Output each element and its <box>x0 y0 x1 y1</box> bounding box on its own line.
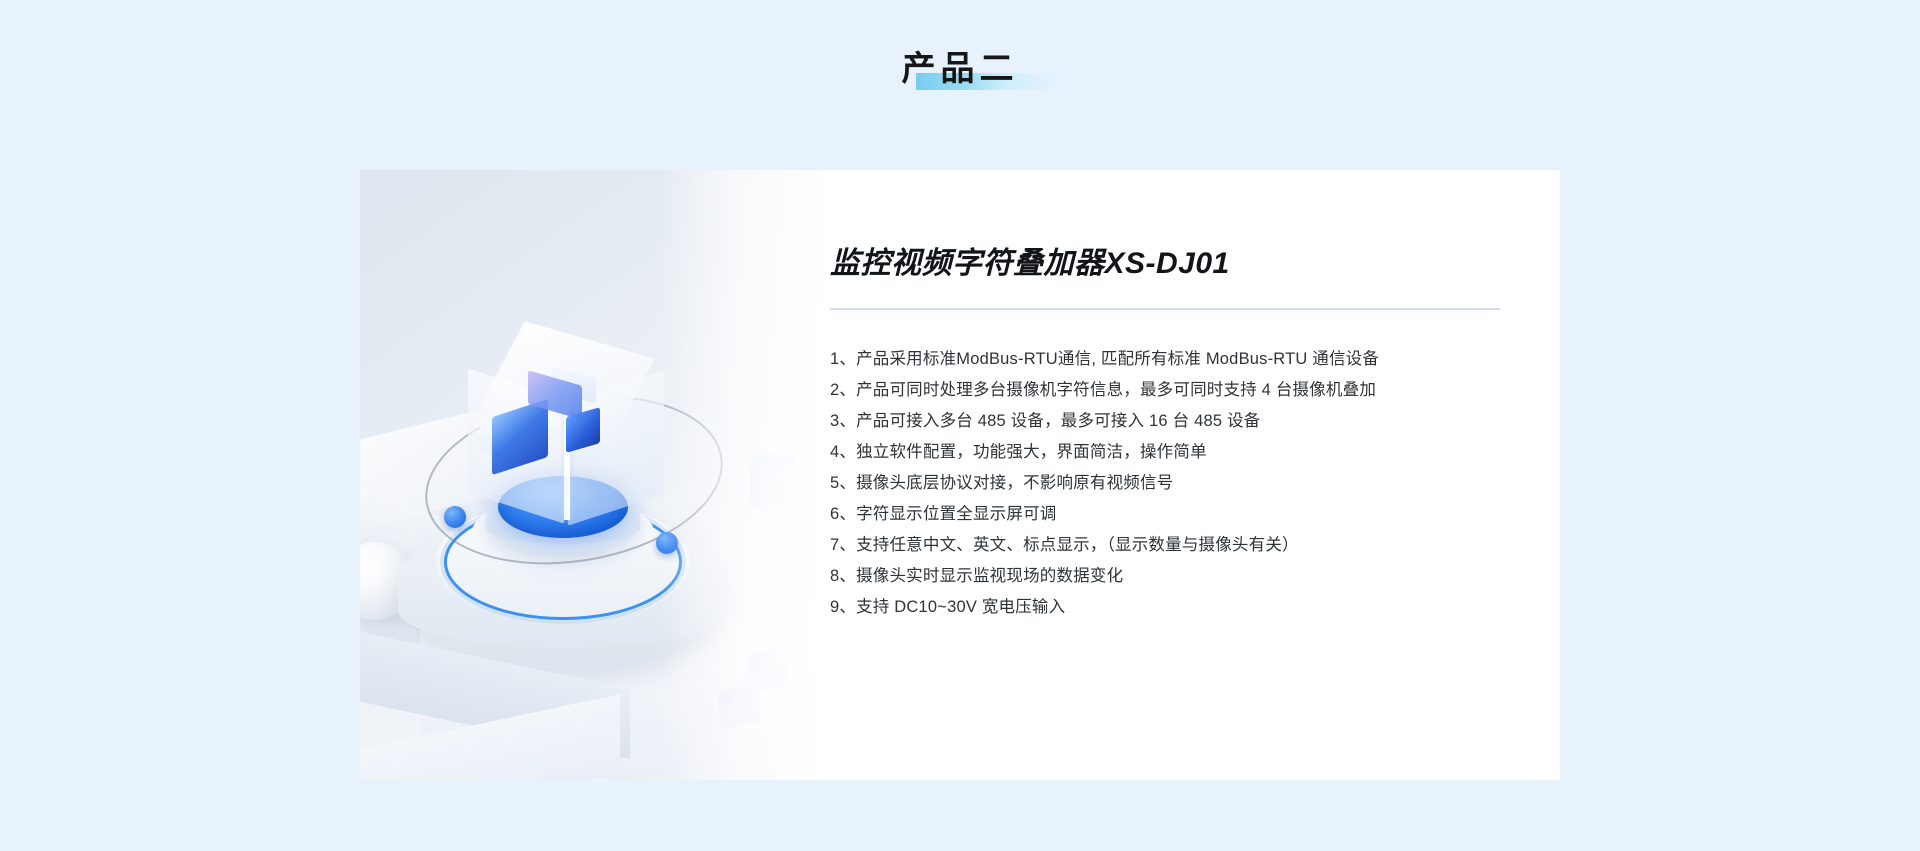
product-visual <box>360 170 830 780</box>
feature-list: 1、产品采用标准ModBus-RTU通信, 匹配所有标准 ModBus-RTU … <box>830 344 1500 623</box>
feature-item: 4、独立软件配置，功能强大，界面简洁，操作简单 <box>830 437 1500 468</box>
product-card: 监控视频字符叠加器XS-DJ01 1、产品采用标准ModBus-RTU通信, 匹… <box>360 170 1560 780</box>
section-heading-text: 产品二 <box>902 46 1019 92</box>
feature-item: 3、产品可接入多台 485 设备，最多可接入 16 台 485 设备 <box>830 406 1500 437</box>
product-info-panel: 监控视频字符叠加器XS-DJ01 1、产品采用标准ModBus-RTU通信, 匹… <box>830 170 1560 780</box>
orbit-node-right-icon <box>656 532 678 554</box>
feature-item: 6、字符显示位置全显示屏可调 <box>830 499 1500 530</box>
feature-item: 1、产品采用标准ModBus-RTU通信, 匹配所有标准 ModBus-RTU … <box>830 344 1500 375</box>
feature-item: 8、摄像头实时显示监视现场的数据变化 <box>830 561 1500 592</box>
feature-item: 5、摄像头底层协议对接，不影响原有视频信号 <box>830 468 1500 499</box>
section-heading: 产品二 <box>0 46 1920 116</box>
product-title: 监控视频字符叠加器XS-DJ01 <box>830 244 1500 284</box>
feature-item: 2、产品可同时处理多台摄像机字符信息，最多可同时支持 4 台摄像机叠加 <box>830 375 1500 406</box>
feature-item: 7、支持任意中文、英文、标点显示，（显示数量与摄像头有关） <box>830 530 1500 561</box>
orbit-node-left-icon <box>444 506 466 528</box>
title-divider <box>830 308 1500 310</box>
feature-item: 9、支持 DC10~30V 宽电压输入 <box>830 592 1500 623</box>
section-heading-inner: 产品二 <box>898 46 1023 92</box>
translucent-cylinder-icon <box>750 460 798 510</box>
